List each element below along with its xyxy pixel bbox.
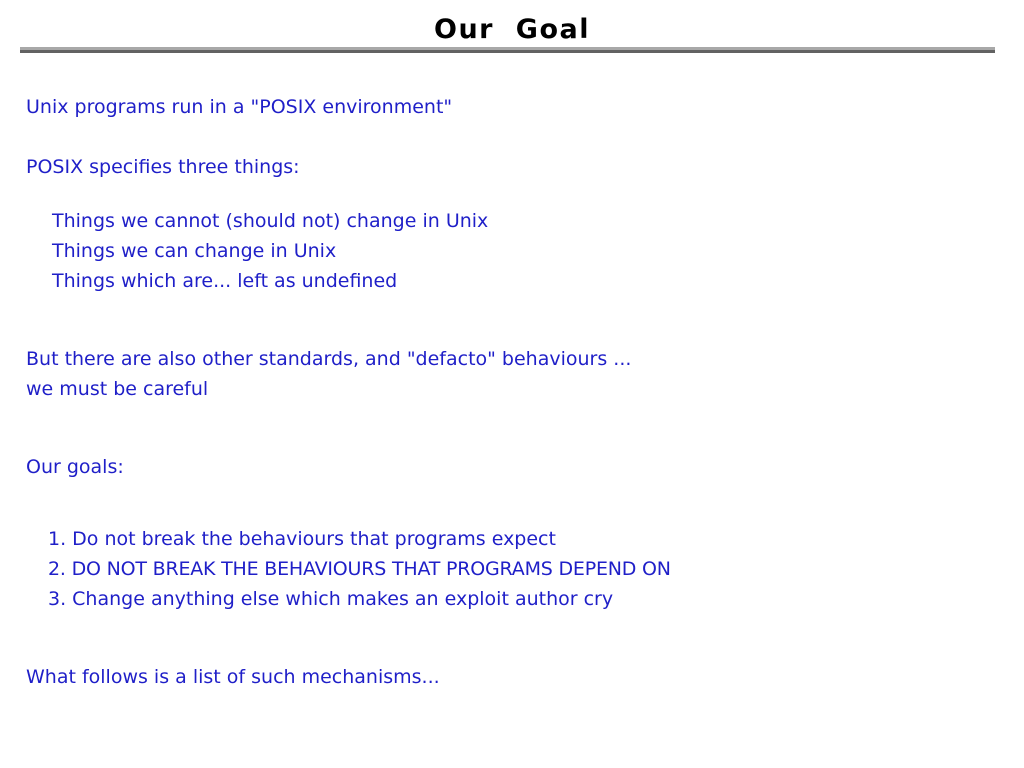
spacer (26, 296, 1006, 326)
slide: Our Goal Unix programs run in a "POSIX e… (0, 0, 1024, 768)
caveat-line-1: But there are also other standards, and … (26, 344, 1006, 374)
intro-text: Unix programs run in a "POSIX environmen… (26, 92, 1006, 122)
spacer (26, 614, 1006, 644)
spacer (26, 182, 1006, 206)
goals-heading: Our goals: (26, 452, 1006, 482)
spacer (26, 326, 1006, 344)
title-divider (20, 47, 995, 53)
list-item: 1. Do not break the behaviours that prog… (26, 524, 1006, 554)
spacer (26, 482, 1006, 506)
spacer (26, 506, 1006, 524)
posix-heading: POSIX specifies three things: (26, 152, 1006, 182)
caveat-line-2: we must be careful (26, 374, 1006, 404)
divider-lower-band (20, 50, 995, 53)
list-item: Things we cannot (should not) change in … (26, 206, 1006, 236)
list-item: Things which are... left as undefined (26, 266, 1006, 296)
list-item: 2. DO NOT BREAK THE BEHAVIOURS THAT PROG… (26, 554, 1006, 584)
spacer (26, 434, 1006, 452)
list-item: 3. Change anything else which makes an e… (26, 584, 1006, 614)
spacer (26, 644, 1006, 662)
spacer (26, 122, 1006, 152)
page-title: Our Goal (0, 14, 1024, 46)
spacer (26, 404, 1006, 434)
list-item: Things we can change in Unix (26, 236, 1006, 266)
slide-body: Unix programs run in a "POSIX environmen… (26, 92, 1006, 692)
closing-text: What follows is a list of such mechanism… (26, 662, 1006, 692)
